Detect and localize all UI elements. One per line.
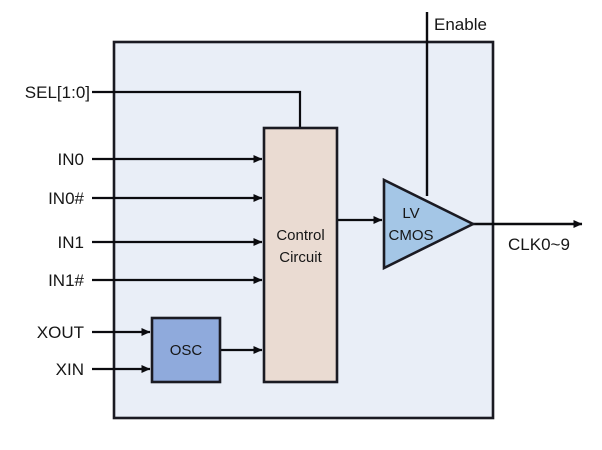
lv-cmos-label-line2: CMOS xyxy=(389,227,434,244)
xin-pin-label: XIN xyxy=(56,360,84,379)
xout-pin-label: XOUT xyxy=(37,323,84,342)
block-diagram-svg: Control Circuit OSC LV CMOS SEL[1:0] IN0… xyxy=(0,0,602,450)
control-circuit-label-line2: Circuit xyxy=(279,249,322,266)
clk-output-label: CLK0~9 xyxy=(508,235,570,254)
in1-pin-label: IN1 xyxy=(58,233,84,252)
sel-pin-label: SEL[1:0] xyxy=(25,83,90,102)
lv-cmos-label-line1: LV xyxy=(402,205,419,222)
in1n-pin-label: IN1# xyxy=(48,271,84,290)
block-diagram-canvas: Control Circuit OSC LV CMOS SEL[1:0] IN0… xyxy=(0,0,602,450)
control-circuit-label-line1: Control xyxy=(276,227,324,244)
in0n-pin-label: IN0# xyxy=(48,189,84,208)
enable-pin-label: Enable xyxy=(434,15,487,34)
in0-pin-label: IN0 xyxy=(58,150,84,169)
osc-label: OSC xyxy=(170,342,203,359)
